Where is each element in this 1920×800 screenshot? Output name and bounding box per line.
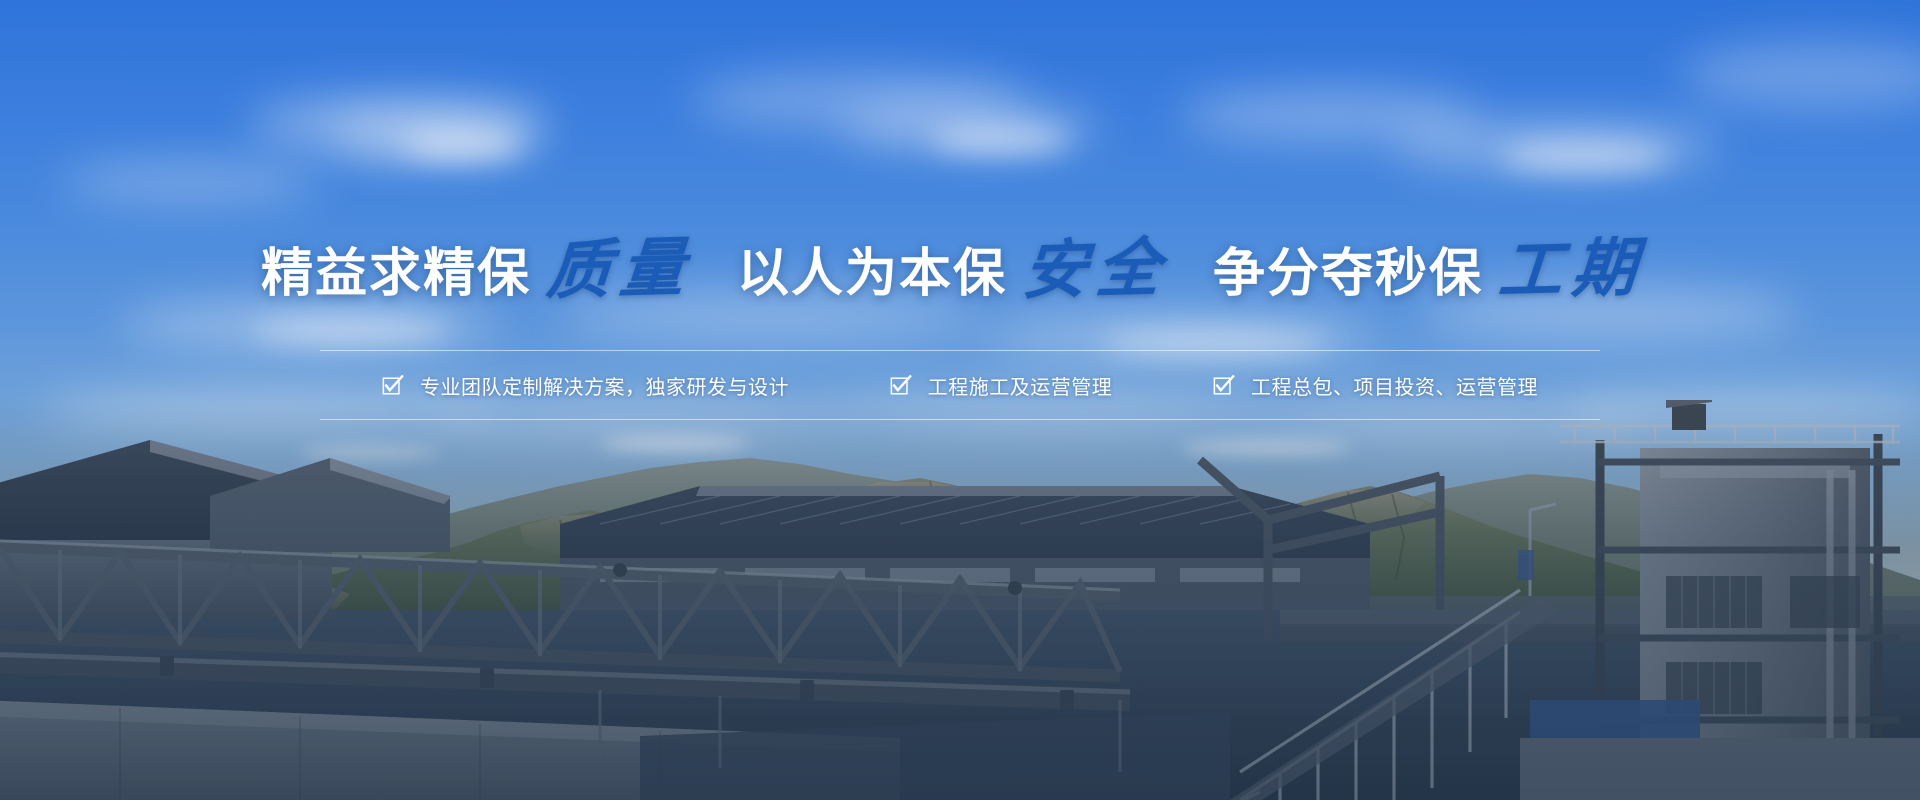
banner-content: 精益求精保 质量 以人为本保 安全 争分夺秒保 工期 专业团队定制解决方案，独家… — [0, 0, 1920, 520]
headline-segment-3: 以人为本保 — [737, 248, 1007, 300]
headline-segment-2-calligraphy: 质量 — [544, 236, 695, 304]
checkbox-checked-icon — [890, 375, 912, 397]
headline-segment-1: 精益求精保 — [261, 248, 531, 300]
hero-banner: 精益求精保 质量 以人为本保 安全 争分夺秒保 工期 专业团队定制解决方案，独家… — [0, 0, 1920, 800]
feature-list: 专业团队定制解决方案，独家研发与设计 工程施工及运营管理 工程总包、项目投资、运… — [320, 371, 1600, 400]
checkbox-checked-icon — [382, 375, 404, 397]
headline-segment-5: 争分夺秒保 — [1213, 248, 1483, 300]
feature-item-2: 工程施工及运营管理 — [890, 371, 1113, 400]
headline: 精益求精保 质量 以人为本保 安全 争分夺秒保 工期 — [261, 238, 1659, 302]
feature-item-3: 工程总包、项目投资、运营管理 — [1213, 371, 1538, 400]
feature-label-3: 工程总包、项目投资、运营管理 — [1251, 371, 1538, 400]
headline-segment-4-calligraphy: 安全 — [1020, 236, 1171, 304]
feature-item-1: 专业团队定制解决方案，独家研发与设计 — [382, 371, 789, 400]
feature-label-2: 工程施工及运营管理 — [928, 371, 1113, 400]
checkbox-checked-icon — [1213, 375, 1235, 397]
headline-segment-6-calligraphy: 工期 — [1496, 236, 1647, 304]
feature-label-1: 专业团队定制解决方案，独家研发与设计 — [420, 371, 789, 400]
feature-list-container: 专业团队定制解决方案，独家研发与设计 工程施工及运营管理 工程总包、项目投资、运… — [320, 350, 1600, 420]
